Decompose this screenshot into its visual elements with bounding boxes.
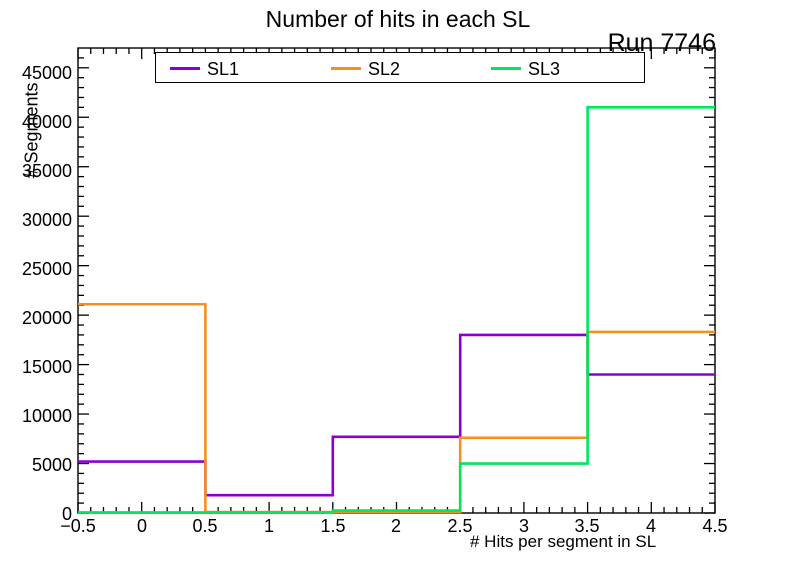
- histogram-plot: [0, 0, 796, 572]
- plot-frame: [78, 48, 715, 513]
- legend-label-sl3: SL3: [528, 60, 560, 78]
- legend-entry-sl1[interactable]: SL1: [170, 53, 239, 84]
- axis-frame: [78, 48, 715, 513]
- series-line-sl3: [78, 107, 715, 512]
- series-line-sl1: [78, 335, 715, 495]
- legend-label-sl2: SL2: [368, 60, 400, 78]
- legend-entry-sl2[interactable]: SL2: [331, 53, 400, 84]
- legend-swatch-sl3: [491, 67, 521, 70]
- series-line-sl2: [78, 304, 715, 512]
- legend-swatch-sl2: [331, 67, 361, 70]
- legend: SL1 SL2 SL3: [155, 52, 645, 83]
- legend-label-sl1: SL1: [207, 60, 239, 78]
- chart-canvas: Number of hits in each SL Run 7746 # Seg…: [0, 0, 796, 572]
- histogram-series: [78, 107, 715, 512]
- legend-swatch-sl1: [170, 67, 200, 70]
- legend-entry-sl3[interactable]: SL3: [491, 53, 560, 84]
